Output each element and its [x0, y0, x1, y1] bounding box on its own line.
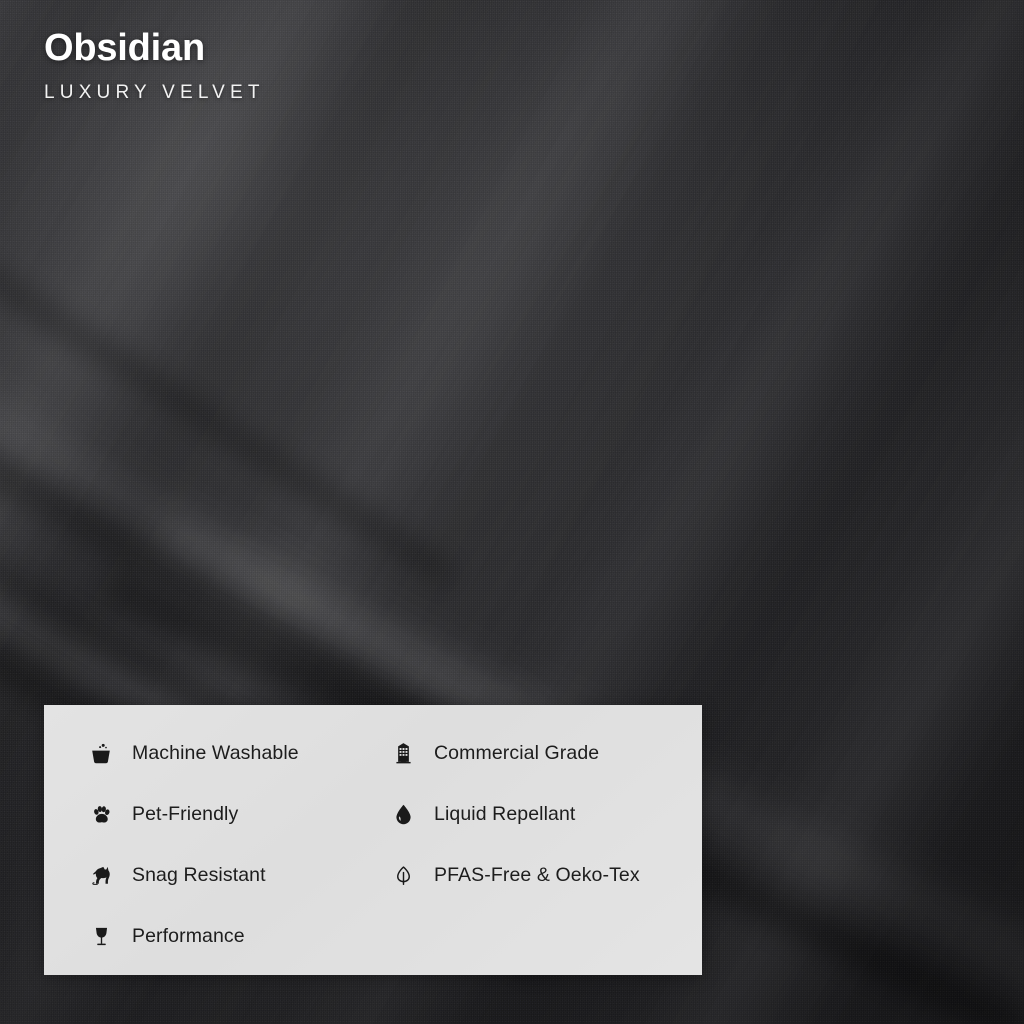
feature-label: PFAS-Free & Oeko-Tex: [434, 864, 640, 887]
feature-label: Commercial Grade: [434, 742, 599, 765]
feature-label: Snag Resistant: [132, 864, 266, 887]
paw-print-icon: [88, 802, 114, 828]
feature-liquid-repellant: Liquid Repellant: [346, 784, 702, 845]
feature-label: Liquid Repellant: [434, 803, 575, 826]
cat-icon: [88, 863, 114, 889]
washing-basin-icon: [88, 741, 114, 767]
feature-performance: Performance: [44, 906, 346, 967]
feature-pfas-free-oeko-tex: PFAS-Free & Oeko-Tex: [346, 845, 702, 906]
fabric-swatch-card: Obsidian LUXURY VELVET Machine Washable: [0, 0, 1024, 1024]
page-title: Obsidian: [44, 28, 265, 70]
feature-snag-resistant: Snag Resistant: [44, 845, 346, 906]
feature-machine-washable: Machine Washable: [44, 723, 346, 784]
leaf-icon: [390, 863, 416, 889]
building-icon: [390, 741, 416, 767]
water-drop-icon: [390, 802, 416, 828]
page-subtitle: LUXURY VELVET: [44, 82, 265, 104]
feature-pet-friendly: Pet-Friendly: [44, 784, 346, 845]
wine-glass-icon: [88, 924, 114, 950]
feature-label: Pet-Friendly: [132, 803, 238, 826]
feature-label: Machine Washable: [132, 742, 299, 765]
header: Obsidian LUXURY VELVET: [44, 28, 265, 104]
feature-label: Performance: [132, 925, 245, 948]
feature-commercial-grade: Commercial Grade: [346, 723, 702, 784]
feature-panel: Machine Washable Commercial Grade: [44, 705, 702, 975]
